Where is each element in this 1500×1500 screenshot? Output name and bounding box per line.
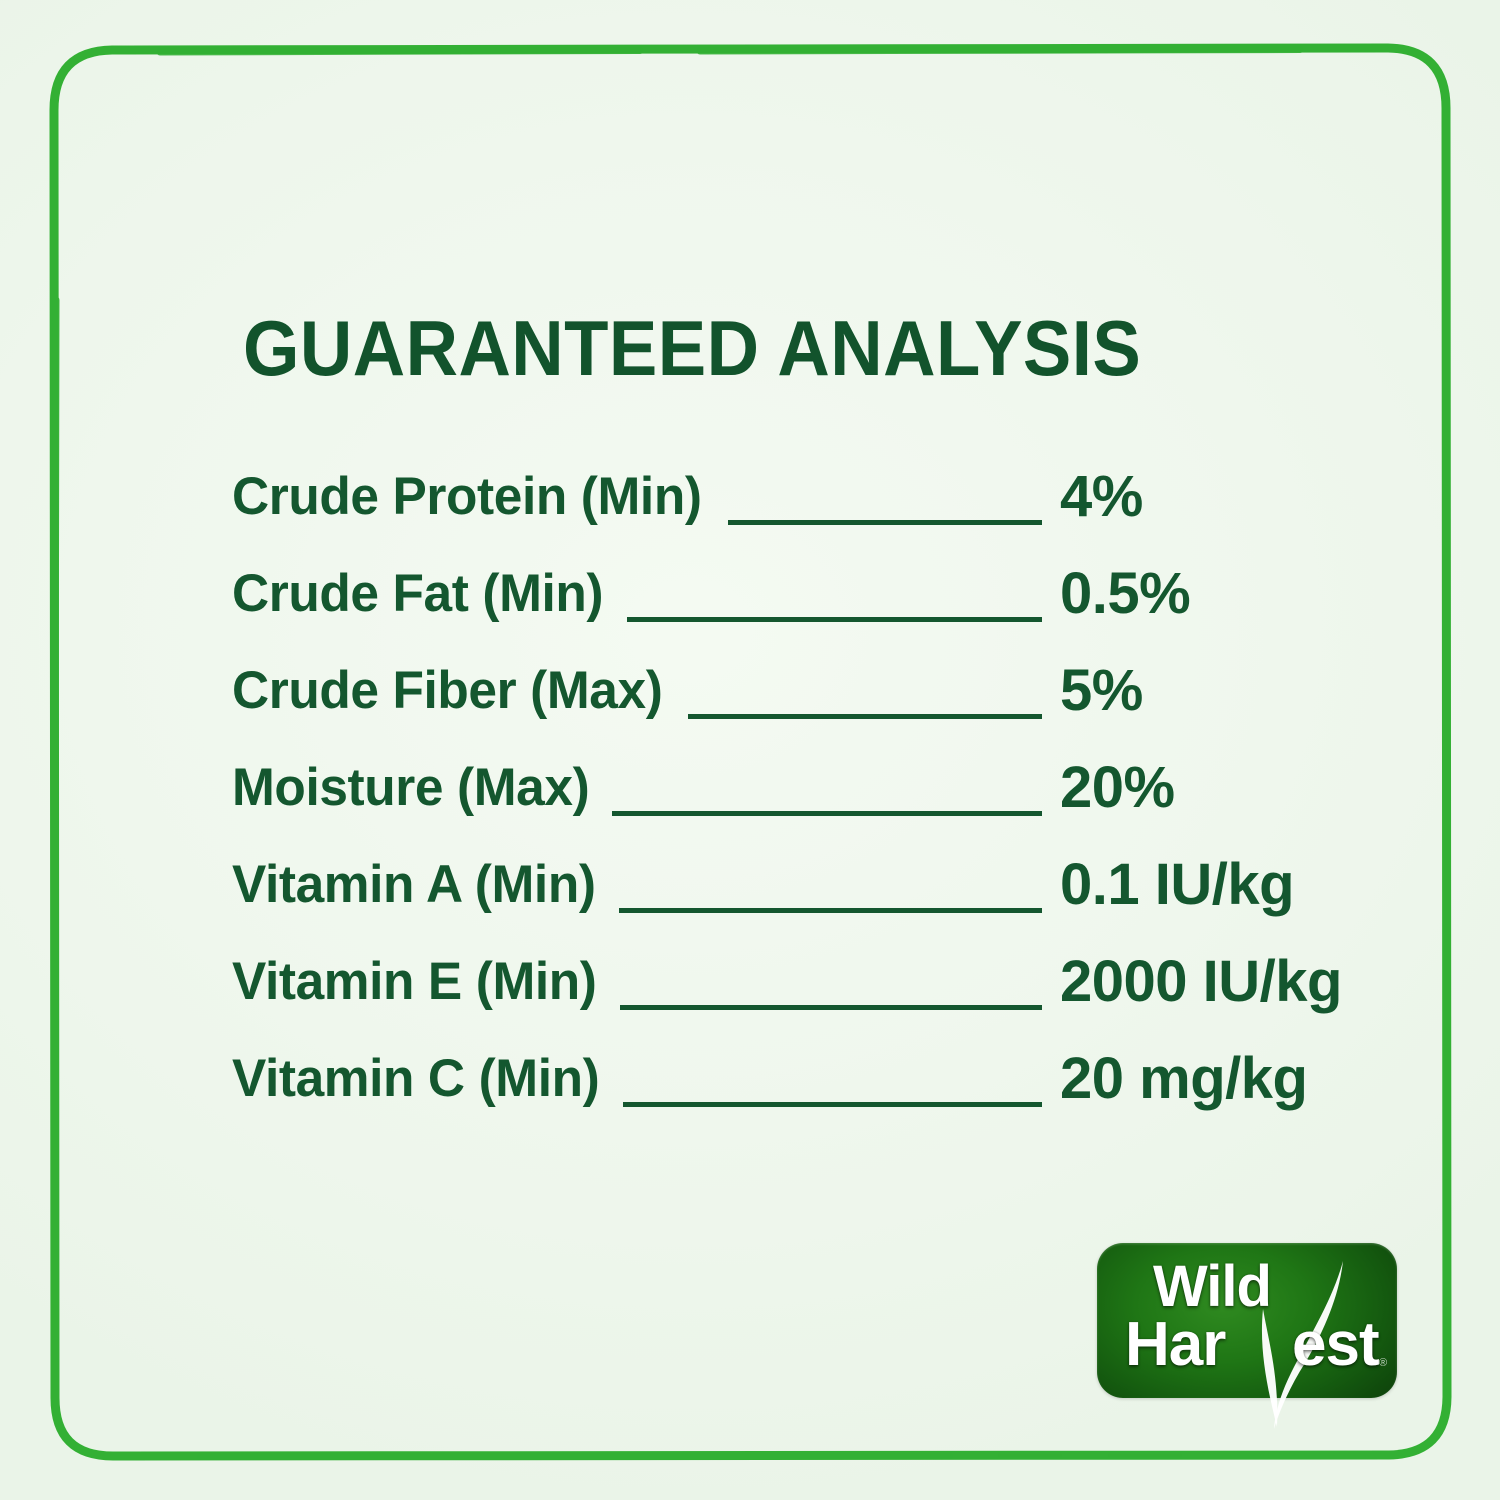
table-row: Moisture (Max) 20% xyxy=(232,739,1362,836)
brand-logo: Wild Har est ® xyxy=(1097,1243,1397,1398)
table-row: Crude Protein (Min) 4% xyxy=(232,448,1362,545)
table-row: Vitamin A (Min) 0.1 IU/kg xyxy=(232,836,1362,933)
row-label: Crude Fiber (Max) xyxy=(232,663,662,719)
leader-line xyxy=(627,617,1042,622)
row-label: Vitamin C (Min) xyxy=(232,1051,599,1107)
logo-line-1: Wild xyxy=(1153,1257,1271,1317)
row-label: Vitamin E (Min) xyxy=(232,954,597,1010)
row-value: 0.1 IU/kg xyxy=(1060,855,1362,915)
row-value: 5% xyxy=(1060,661,1362,721)
row-label: Vitamin A (Min) xyxy=(232,857,596,913)
logo-line-2-part2: est xyxy=(1292,1313,1379,1377)
table-row: Crude Fiber (Max) 5% xyxy=(232,642,1362,739)
logo-line-2-part1: Har xyxy=(1125,1313,1225,1377)
logo-text: Wild Har est ® xyxy=(1097,1243,1397,1398)
analysis-rows: Crude Protein (Min) 4% Crude Fat (Min) 0… xyxy=(232,448,1362,1127)
leader-line xyxy=(619,908,1042,913)
guaranteed-analysis-panel: GUARANTEED ANALYSIS Crude Protein (Min) … xyxy=(0,0,1500,1500)
row-value: 20 mg/kg xyxy=(1060,1049,1362,1109)
leader-line xyxy=(728,520,1042,525)
row-value: 2000 IU/kg xyxy=(1060,952,1362,1012)
leader-line xyxy=(612,811,1042,816)
row-label: Moisture (Max) xyxy=(232,760,589,816)
registered-trademark-icon: ® xyxy=(1379,1357,1387,1369)
leader-line xyxy=(623,1102,1042,1107)
table-row: Vitamin E (Min) 2000 IU/kg xyxy=(232,933,1362,1030)
row-value: 4% xyxy=(1060,467,1362,527)
leader-line xyxy=(620,1005,1042,1010)
page-title: GUARANTEED ANALYSIS xyxy=(243,306,1141,390)
table-row: Crude Fat (Min) 0.5% xyxy=(232,545,1362,642)
table-row: Vitamin C (Min) 20 mg/kg xyxy=(232,1030,1362,1127)
leader-line xyxy=(688,714,1042,719)
row-value: 0.5% xyxy=(1060,564,1362,624)
row-label: Crude Fat (Min) xyxy=(232,566,603,622)
row-label: Crude Protein (Min) xyxy=(232,469,702,525)
row-value: 20% xyxy=(1060,758,1362,818)
